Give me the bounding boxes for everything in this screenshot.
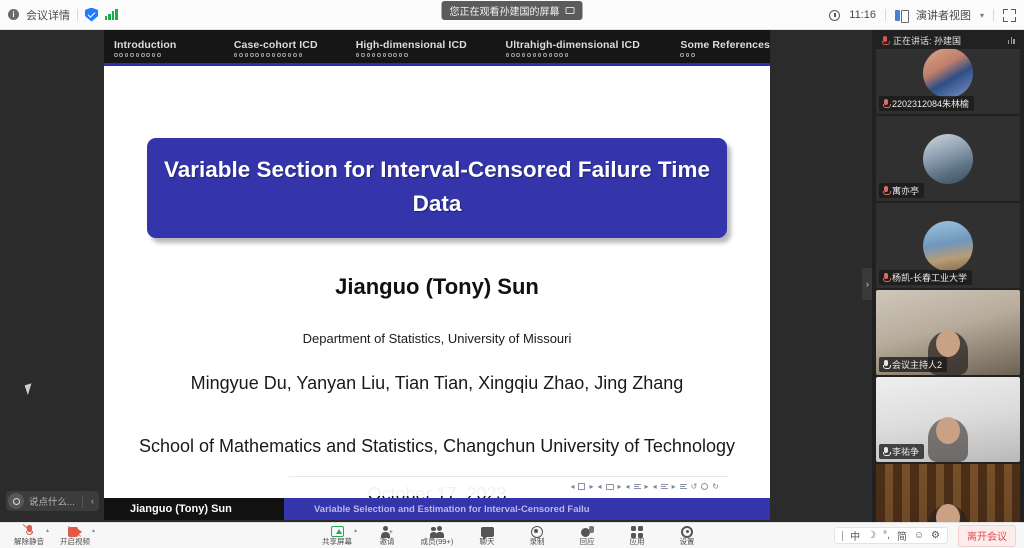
nav-label: Introduction <box>114 39 176 51</box>
participant-name: 李祐争 <box>892 445 919 458</box>
pdf-toc-icon[interactable] <box>680 484 687 490</box>
slide-nav-sections: Introduction Case-cohort ICD High-dimens… <box>104 39 770 57</box>
slide-coauthors: Mingyue Du, Yanyan Liu, Tian Tian, Xingq… <box>134 371 740 397</box>
ime-language-icon[interactable]: 中 <box>850 528 860 543</box>
nav-dots <box>356 53 408 57</box>
pdf-back-icon[interactable]: ↺ <box>691 482 698 491</box>
presentation-slide: Introduction Case-cohort ICD High-dimens… <box>104 30 770 520</box>
participant-name: 会议主持人2 <box>892 358 942 371</box>
signal-icon[interactable] <box>105 9 118 20</box>
slide-nav-high-dimensional-icd[interactable]: High-dimensional ICD <box>356 39 506 57</box>
slide-navigation-header: Introduction Case-cohort ICD High-dimens… <box>104 30 770 66</box>
annotate-icon[interactable] <box>8 493 24 509</box>
participant-name: 2202312084朱林榆 <box>892 97 969 110</box>
slide-footer-title: Variable Selection and Estimation for In… <box>284 498 770 520</box>
nav-dots <box>234 53 302 57</box>
slide-affiliation: Department of Statistics, University of … <box>104 331 770 346</box>
participant-tile-active-speaker[interactable] <box>876 464 1020 522</box>
record-button[interactable]: 录制 <box>520 523 554 548</box>
top-bar: i 会议详情 您正在观看孙建国的屏幕 11:16 演讲者视图 ▾ <box>0 0 1024 30</box>
chevron-up-icon[interactable]: ▴ <box>46 527 49 534</box>
participants-button[interactable]: 成员(99+) <box>420 523 454 548</box>
control-label: 共享屏幕 <box>322 538 352 546</box>
participant-tile[interactable]: 会议主持人2 <box>876 290 1020 375</box>
ime-moon-icon[interactable]: ☽ <box>867 530 876 541</box>
nav-dots <box>114 53 161 57</box>
control-label: 开启视频 <box>60 538 90 546</box>
pdf-frame-icon[interactable] <box>661 484 668 490</box>
control-label: 解除静音 <box>14 538 44 546</box>
control-label: 录制 <box>530 538 545 546</box>
microphone-icon <box>882 360 889 369</box>
ime-emoji-icon[interactable]: ☺ <box>914 530 924 541</box>
reactions-icon <box>581 525 594 538</box>
slide-body: Variable Section for Interval-Censored F… <box>104 66 770 520</box>
pdf-search-icon[interactable] <box>701 483 708 490</box>
ime-settings-icon[interactable]: ⚙ <box>931 530 940 541</box>
info-icon[interactable]: i <box>8 9 19 20</box>
meeting-info-label[interactable]: 会议详情 <box>26 7 70 23</box>
pdf-next-section-button[interactable]: ▸ <box>618 482 622 491</box>
control-label: 设置 <box>680 538 695 546</box>
participant-tile[interactable]: 杨凯-长春工业大学 <box>876 203 1020 288</box>
pdf-toolbar[interactable]: ◂ ▸ ◂ ▸ ◂ ▸ ◂ ▸ ↺ ↻ <box>289 476 729 496</box>
elapsed-time: 11:16 <box>849 9 876 21</box>
ime-simplified-icon[interactable]: 简 <box>897 528 907 543</box>
microphone-muted-icon <box>882 273 889 282</box>
share-screen-icon <box>331 525 344 538</box>
divider <box>885 9 886 21</box>
fullscreen-icon[interactable] <box>1003 9 1016 22</box>
top-bar-right: 11:16 演讲者视图 ▾ <box>829 0 1016 30</box>
apps-icon <box>631 525 643 538</box>
microphone-icon <box>882 447 889 456</box>
participant-name-tag: 李祐争 <box>879 444 924 459</box>
avatar <box>923 221 973 271</box>
chevron-up-icon[interactable]: ▴ <box>92 527 95 534</box>
participant-name-tag: 2202312084朱林榆 <box>879 96 974 111</box>
slide-nav-ultrahigh-dimensional-icd[interactable]: Ultrahigh-dimensional ICD <box>506 39 681 57</box>
pdf-section-icon[interactable] <box>606 484 614 490</box>
microphone-icon <box>881 36 889 45</box>
nav-label: Case-cohort ICD <box>234 39 318 51</box>
participants-icon <box>430 525 444 538</box>
collapse-left-icon[interactable]: ‹ <box>88 496 97 506</box>
slide-author: Jianguo (Tony) Sun <box>104 274 770 300</box>
stage-right-margin <box>770 30 872 522</box>
slide-nav-introduction[interactable]: Introduction <box>114 39 234 57</box>
avatar <box>923 134 973 184</box>
person-face <box>936 417 960 444</box>
participant-tile[interactable]: 李祐争 <box>876 377 1020 462</box>
participant-name-tag: 会议主持人2 <box>879 357 947 372</box>
slide-nav-case-cohort-icd[interactable]: Case-cohort ICD <box>234 39 356 57</box>
annotation-input-label[interactable]: 说点什么... <box>29 494 77 508</box>
slide-title-box: Variable Section for Interval-Censored F… <box>147 138 727 238</box>
pdf-next-subsection-button[interactable]: ▸ <box>645 482 649 491</box>
control-label: 邀请 <box>380 538 395 546</box>
layout-icon[interactable] <box>895 10 907 21</box>
screen-share-notice: 您正在观看孙建国的屏幕 <box>442 1 583 20</box>
control-label: 回应 <box>580 538 595 546</box>
leave-meeting-button[interactable]: 离开会议 <box>958 525 1016 547</box>
control-label: 应用 <box>630 538 645 546</box>
control-bar-left: 解除静音 ▴ 开启视频 ▴ <box>0 523 92 548</box>
divider <box>77 9 78 21</box>
microphone-muted-icon <box>882 186 889 195</box>
chat-icon <box>481 525 494 538</box>
start-video-button[interactable]: 开启视频 ▴ <box>58 523 92 548</box>
chevron-down-icon[interactable]: ▾ <box>980 11 984 20</box>
control-bar-center: 共享屏幕 ▴ + 邀请 成员(99+) 聊天 <box>320 523 704 548</box>
avatar <box>923 48 973 98</box>
participant-name-tag: 寓亦亭 <box>879 183 924 198</box>
settings-gear-icon <box>681 525 693 538</box>
meeting-control-bar: 解除静音 ▴ 开启视频 ▴ 共享屏幕 ▴ + <box>0 522 1024 548</box>
participant-name-tag: 杨凯-长春工业大学 <box>879 270 972 285</box>
camera-off-icon <box>68 525 82 538</box>
share-screen-button[interactable]: 共享屏幕 ▴ <box>320 523 354 548</box>
slide-footer: Jianguo (Tony) Sun Variable Selection an… <box>104 498 770 520</box>
chevron-up-icon[interactable]: ▴ <box>354 527 357 534</box>
pdf-page-icon[interactable] <box>578 483 585 490</box>
control-bar-right: 中 ☽ °, 简 ☺ ⚙ 离开会议 <box>834 525 1016 547</box>
settings-button[interactable]: 设置 <box>670 523 704 548</box>
ime-cursor <box>842 531 843 541</box>
pdf-forward-icon[interactable]: ↻ <box>712 482 719 491</box>
participant-tile[interactable]: 正在讲话: 孙建国 2202312084朱林榆 <box>876 32 1020 114</box>
pdf-prev-subsection-button[interactable]: ◂ <box>626 482 630 491</box>
pdf-next-frame-button[interactable]: ▸ <box>672 482 676 491</box>
clock-icon <box>829 10 840 21</box>
chat-button[interactable]: 聊天 <box>470 523 504 548</box>
nav-dots <box>506 53 569 57</box>
audio-waves-icon <box>1008 37 1015 44</box>
active-speaker-banner: 正在讲话: 孙建国 <box>876 32 1020 49</box>
reactions-button[interactable]: 回应 <box>570 523 604 548</box>
divider <box>82 495 83 508</box>
unmute-button[interactable]: 解除静音 ▴ <box>12 523 46 548</box>
slide-school: School of Mathematics and Statistics, Ch… <box>124 434 750 460</box>
screen-icon <box>566 7 575 14</box>
ime-toolbar[interactable]: 中 ☽ °, 简 ☺ ⚙ <box>834 527 948 544</box>
stage-left-margin <box>0 30 104 522</box>
top-bar-left: i 会议详情 <box>0 7 118 23</box>
screen-share-notice-text: 您正在观看孙建国的屏幕 <box>450 3 560 18</box>
participant-filmstrip[interactable]: 正在讲话: 孙建国 2202312084朱林榆 寓亦亭 杨凯-长春工业大学 <box>872 30 1024 522</box>
nav-dots <box>680 53 694 57</box>
annotation-toolbar[interactable]: 说点什么... ‹ <box>6 491 99 511</box>
invite-button[interactable]: + 邀请 <box>370 523 404 548</box>
record-icon <box>531 525 543 538</box>
ime-punctuation-icon[interactable]: °, <box>883 530 890 541</box>
shared-screen-stage[interactable]: Introduction Case-cohort ICD High-dimens… <box>0 30 872 522</box>
view-mode-label[interactable]: 演讲者视图 <box>916 7 971 23</box>
pdf-subsection-icon[interactable] <box>634 484 641 490</box>
shield-icon[interactable] <box>85 8 98 22</box>
participant-name: 杨凯-长春工业大学 <box>892 271 967 284</box>
nav-label: Ultrahigh-dimensional ICD <box>506 39 640 51</box>
microphone-muted-icon <box>882 99 889 108</box>
invite-person-icon: + <box>381 525 393 538</box>
active-speaker-label: 正在讲话: 孙建国 <box>893 34 961 47</box>
nav-label: High-dimensional ICD <box>356 39 467 51</box>
participant-tile[interactable]: 寓亦亭 <box>876 116 1020 201</box>
pdf-prev-page-button[interactable]: ◂ <box>570 482 574 491</box>
nav-label: Some References <box>680 39 770 51</box>
slide-footer-author: Jianguo (Tony) Sun <box>104 498 284 520</box>
divider <box>993 9 994 21</box>
person-face <box>936 330 960 357</box>
slide-title: Variable Section for Interval-Censored F… <box>161 153 713 221</box>
meeting-window: i 会议详情 您正在观看孙建国的屏幕 11:16 演讲者视图 ▾ <box>0 0 1024 548</box>
participant-name: 寓亦亭 <box>892 184 919 197</box>
microphone-muted-icon <box>24 525 34 538</box>
slide-nav-some-references[interactable]: Some References <box>680 39 770 57</box>
pdf-prev-frame-button[interactable]: ◂ <box>653 482 657 491</box>
apps-button[interactable]: 应用 <box>620 523 654 548</box>
pdf-next-page-button[interactable]: ▸ <box>589 482 593 491</box>
control-label: 成员(99+) <box>421 538 454 546</box>
pdf-prev-section-button[interactable]: ◂ <box>598 482 602 491</box>
